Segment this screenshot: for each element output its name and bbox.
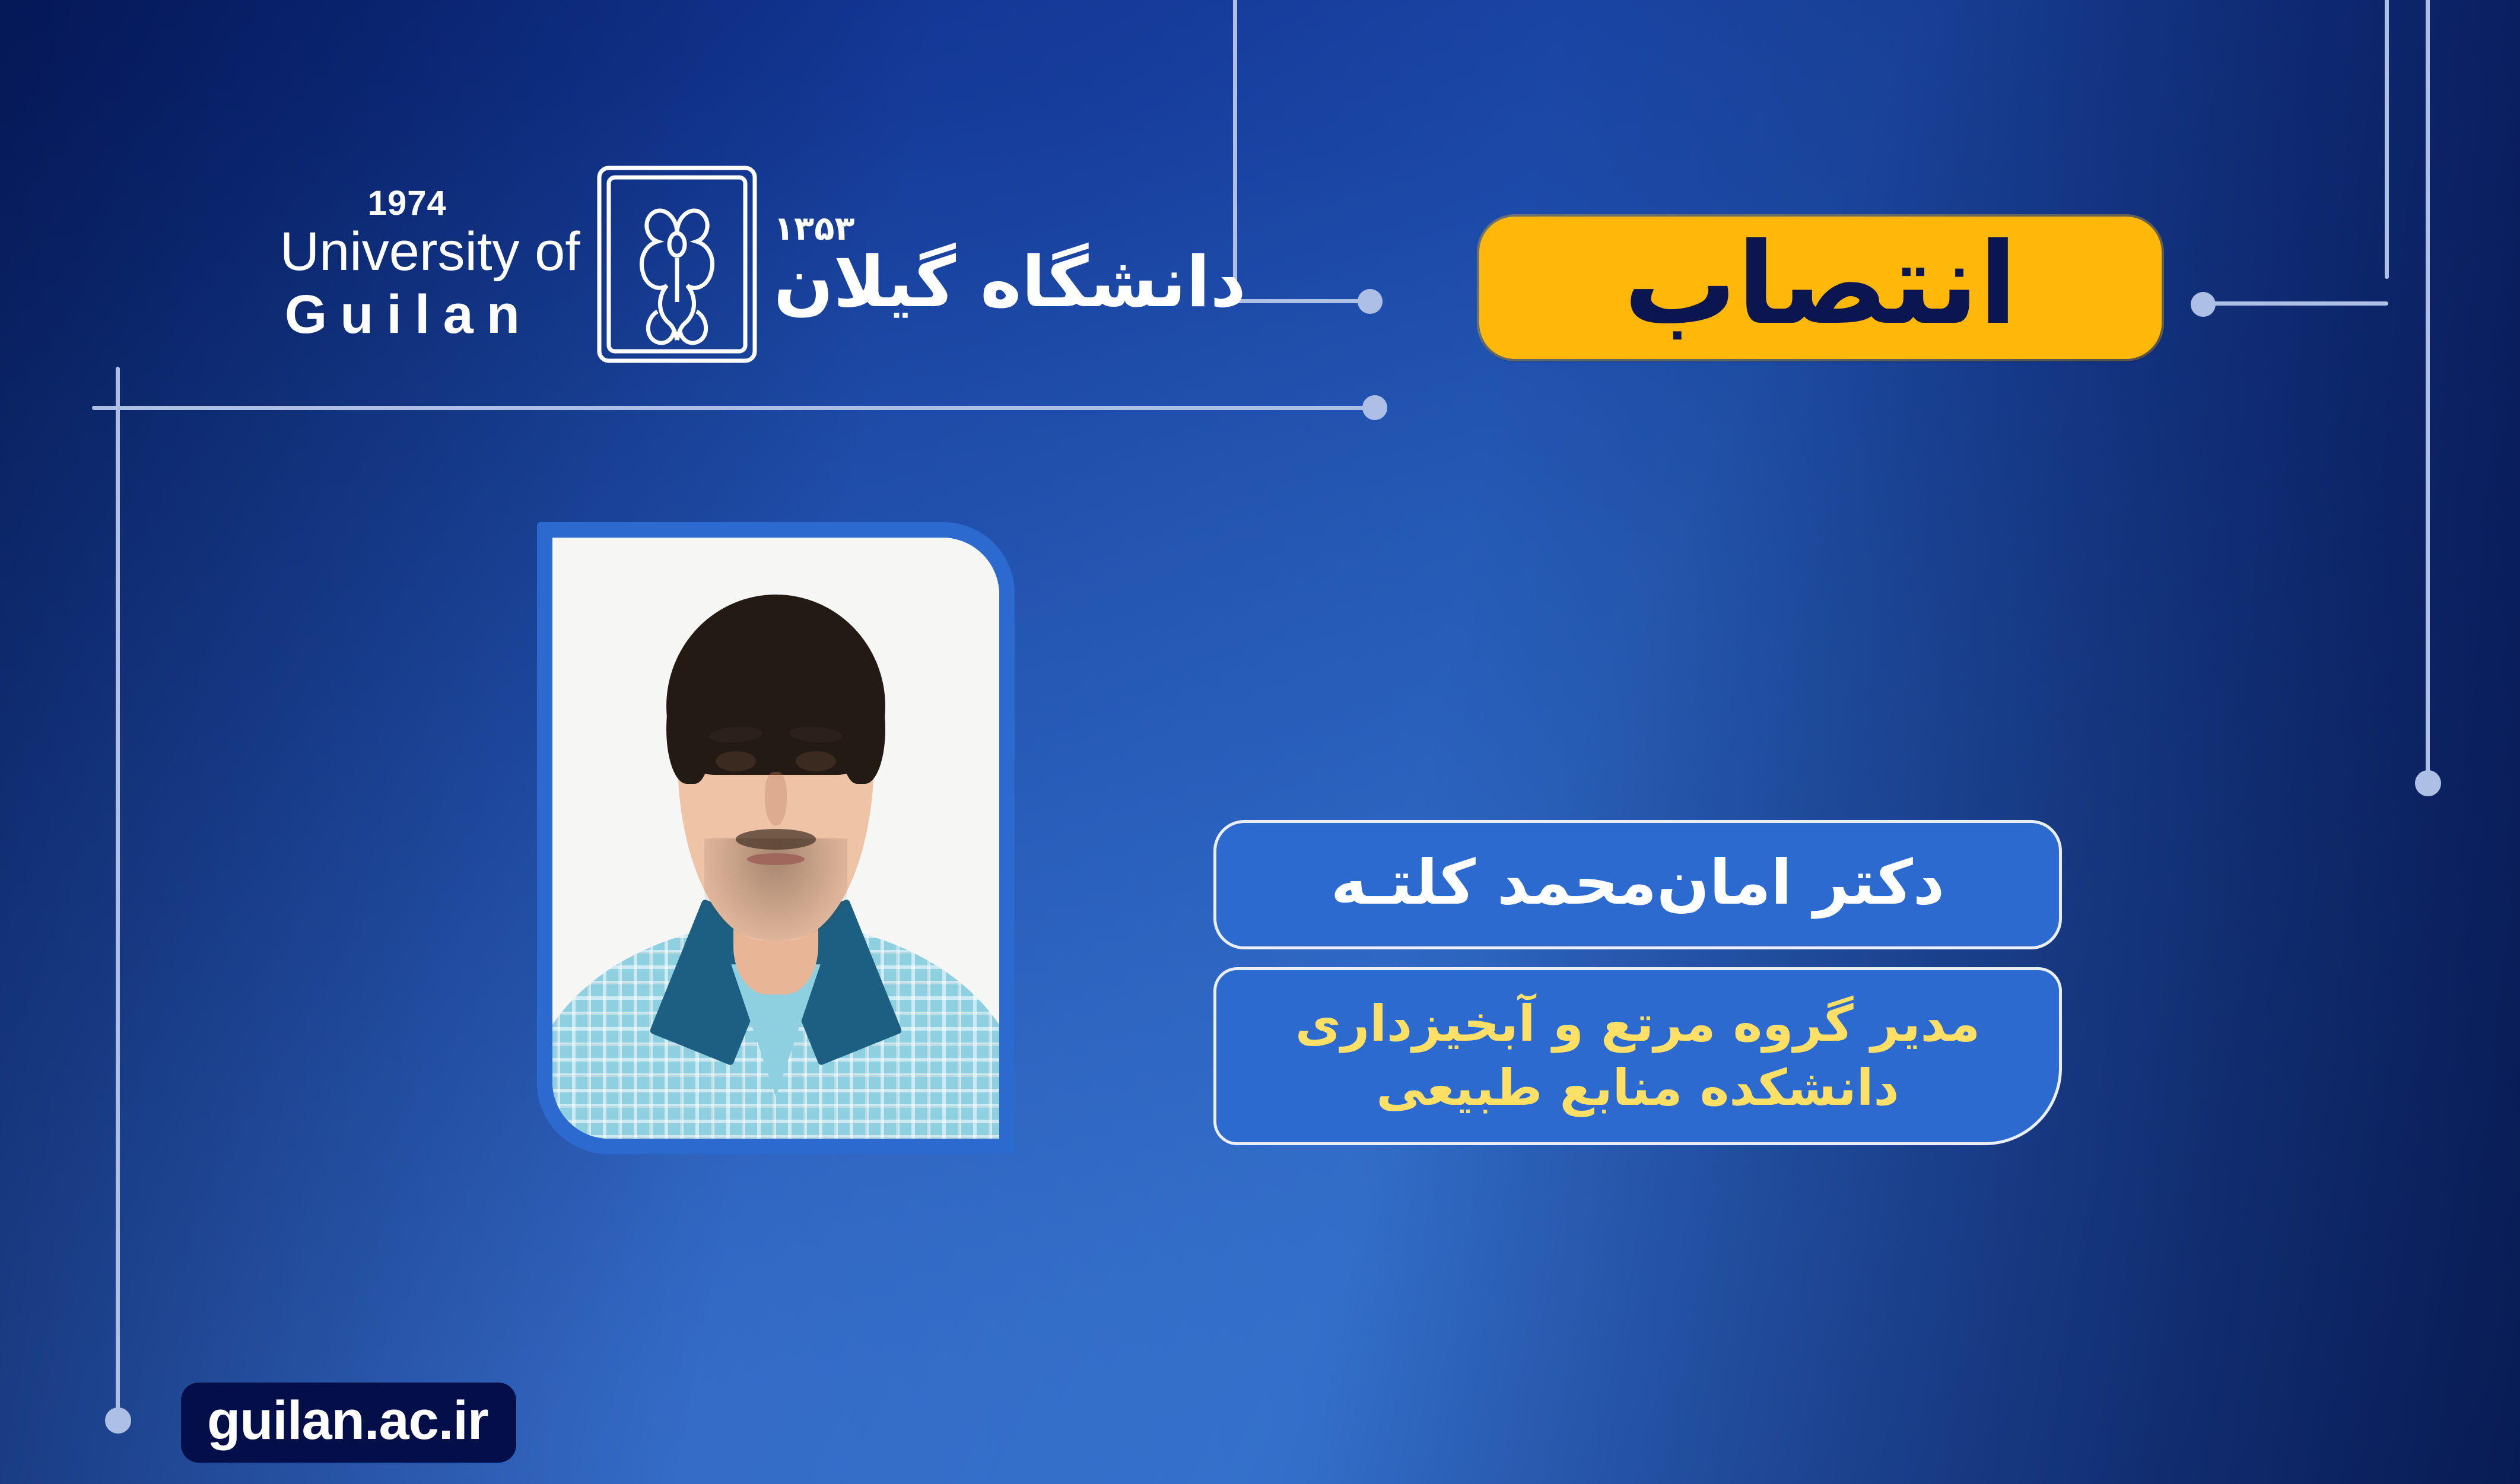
- decor-dot-under-logo: [1362, 395, 1387, 420]
- decor-dot-top-middle: [1358, 289, 1383, 314]
- decor-dot-far-right: [2415, 770, 2441, 796]
- website-badge[interactable]: guilan.ac.ir: [181, 1383, 516, 1463]
- poster-canvas: 1974 University of Guilan ۱۳۵۳ دان: [0, 0, 2520, 1484]
- guilan-university-emblem-icon: [591, 162, 763, 367]
- person-name: دکتر امان‌محمد کلتـه: [1331, 851, 1944, 913]
- website-url: guilan.ac.ir: [207, 1393, 488, 1448]
- decor-line-top-middle-horizontal: [1233, 299, 1372, 303]
- decor-dot-bottom-left: [105, 1407, 131, 1434]
- decor-line-far-right-vertical: [2426, 0, 2430, 777]
- decor-dot-right: [2191, 292, 2216, 317]
- logo-guilan-label: Guilan: [285, 287, 533, 342]
- portrait-photo-frame: [537, 522, 1015, 1154]
- headline-badge: انتصاب: [1479, 217, 2162, 359]
- person-role-badge: مدیر گروه مرتع و آبخیزداری دانشکده منابع…: [1213, 967, 2062, 1145]
- logo-english-text: 1974 University of Guilan: [280, 186, 580, 342]
- decor-line-under-logo-horizontal: [92, 406, 1383, 410]
- logo-university-of-label: University of: [280, 224, 580, 279]
- headline-label: انتصاب: [1623, 228, 2017, 341]
- logo-founded-year-gregorian: 1974: [368, 186, 447, 221]
- person-role-line-1: مدیر گروه مرتع و آبخیزداری: [1295, 992, 1980, 1056]
- decor-line-right-vertical: [2385, 0, 2389, 279]
- logo-persian-text: ۱۳۵۳ دانشگاه گیلان: [774, 209, 1246, 319]
- person-role-line-2: دانشکده منابع طبیعی: [1376, 1056, 1899, 1120]
- portrait-photo: [552, 538, 999, 1139]
- decor-line-left-vertical: [116, 367, 120, 1420]
- university-logo: 1974 University of Guilan ۱۳۵۳ دان: [178, 148, 1246, 380]
- logo-university-name-fa: دانشگاه گیلان: [774, 246, 1246, 319]
- person-name-badge: دکتر امان‌محمد کلتـه: [1213, 820, 2062, 949]
- decor-line-right-horizontal: [2207, 301, 2388, 306]
